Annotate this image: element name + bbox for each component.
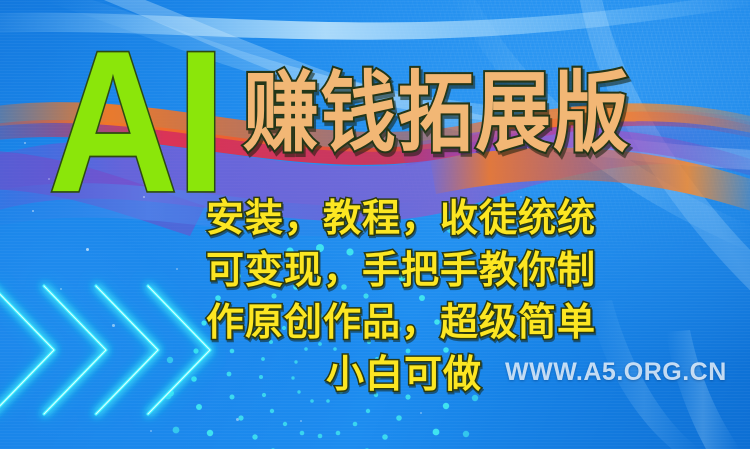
headline-chinese: 赚钱拓展版 [243, 70, 631, 157]
sparkle-dot [24, 142, 26, 144]
promo-poster: AI 赚钱拓展版 安装，教程，收徒统统 可变现，手把手教你制 作原创作品，超级简… [0, 0, 750, 449]
watermark-url: WWW.A5.ORG.CN [505, 360, 727, 385]
subheading-line-2: 可变现，手把手教你制 [0, 245, 750, 297]
subheading-line-3: 作原创作品，超级简单 [0, 297, 750, 349]
subheading-line-1: 安装，教程，收徒统统 [0, 193, 750, 245]
